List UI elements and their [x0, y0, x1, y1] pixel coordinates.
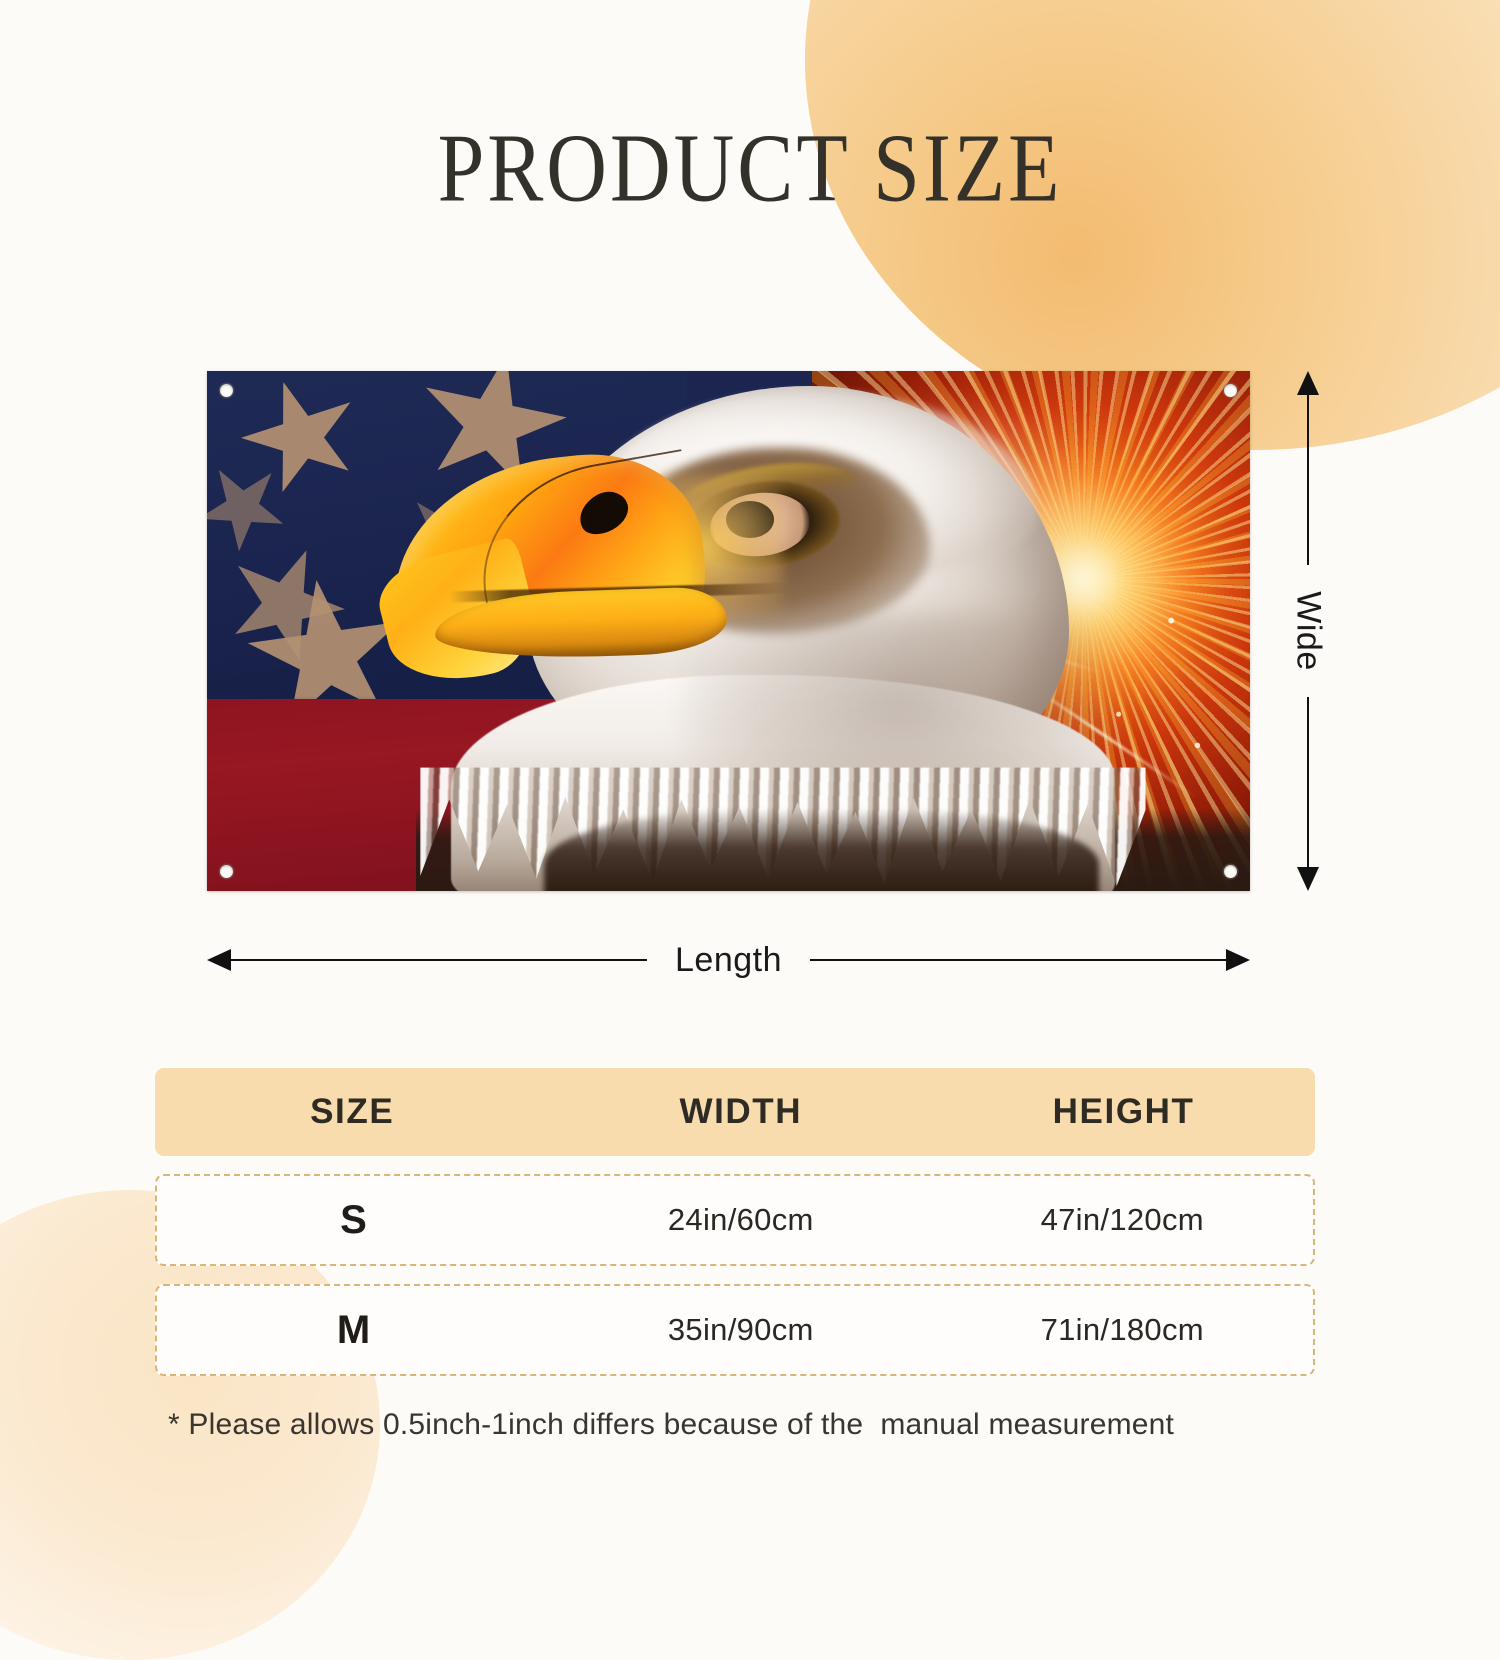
- grommet-bottom-right: [1224, 865, 1237, 878]
- length-line-left: [231, 959, 647, 961]
- column-header-height: HEIGHT: [932, 1092, 1315, 1132]
- length-dimension-label: Length: [647, 941, 810, 980]
- size-table: SIZE WIDTH HEIGHT S 24in/60cm 47in/120cm…: [155, 1068, 1315, 1376]
- arrow-up-icon: [1297, 371, 1319, 395]
- arrow-down-icon: [1297, 867, 1319, 891]
- column-header-size: SIZE: [155, 1092, 549, 1132]
- table-row: S 24in/60cm 47in/120cm: [155, 1174, 1315, 1266]
- cell-height: 71in/180cm: [932, 1312, 1313, 1348]
- eagle-body: [544, 809, 1100, 891]
- cell-height: 47in/120cm: [932, 1202, 1313, 1238]
- cell-width: 35in/90cm: [550, 1312, 931, 1348]
- eagle-illustration: [374, 376, 1146, 891]
- cell-size: M: [157, 1308, 550, 1353]
- length-dimension-indicator: Length: [207, 930, 1250, 990]
- grommet-top-left: [220, 384, 233, 397]
- grommet-top-right: [1224, 384, 1237, 397]
- table-row: M 35in/90cm 71in/180cm: [155, 1284, 1315, 1376]
- eagle-beak: [374, 459, 714, 680]
- length-line-right: [810, 959, 1226, 961]
- product-image: [207, 371, 1250, 891]
- cell-size: S: [157, 1198, 550, 1243]
- table-header-row: SIZE WIDTH HEIGHT: [155, 1068, 1315, 1156]
- arrow-left-icon: [207, 949, 231, 971]
- cell-width: 24in/60cm: [550, 1202, 931, 1238]
- measurement-disclaimer: * Please allows 0.5inch-1inch differs be…: [168, 1408, 1368, 1442]
- wide-line-top: [1307, 393, 1309, 565]
- wide-dimension-label: Wide: [1289, 591, 1328, 670]
- column-header-width: WIDTH: [549, 1092, 932, 1132]
- page-title: PRODUCT SIZE: [0, 116, 1500, 223]
- banner-artwork: [207, 371, 1250, 891]
- wide-dimension-indicator: Wide: [1278, 371, 1338, 891]
- grommet-bottom-left: [220, 865, 233, 878]
- wide-line-bottom: [1307, 697, 1309, 869]
- arrow-right-icon: [1226, 949, 1250, 971]
